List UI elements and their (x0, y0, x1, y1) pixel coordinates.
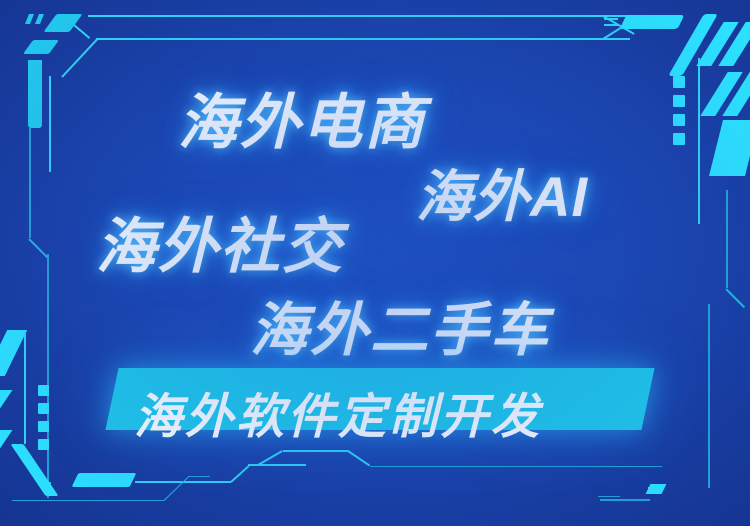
headline-overseas-used-car: 海外二手车 (250, 283, 550, 367)
tech-promo-banner: 海外电商 海外AI 海外社交 海外二手车 海外软件定制开发 (0, 0, 750, 526)
headline-stack: 海外电商 海外AI 海外社交 海外二手车 海外软件定制开发 (0, 0, 750, 526)
headline-overseas-social: 海外社交 (96, 198, 344, 285)
headline-overseas-ecommerce: 海外电商 (178, 74, 426, 161)
ribbon-label-software-customization: 海外软件定制开发 (134, 377, 542, 447)
headline-overseas-ai: 海外AI (416, 152, 588, 233)
